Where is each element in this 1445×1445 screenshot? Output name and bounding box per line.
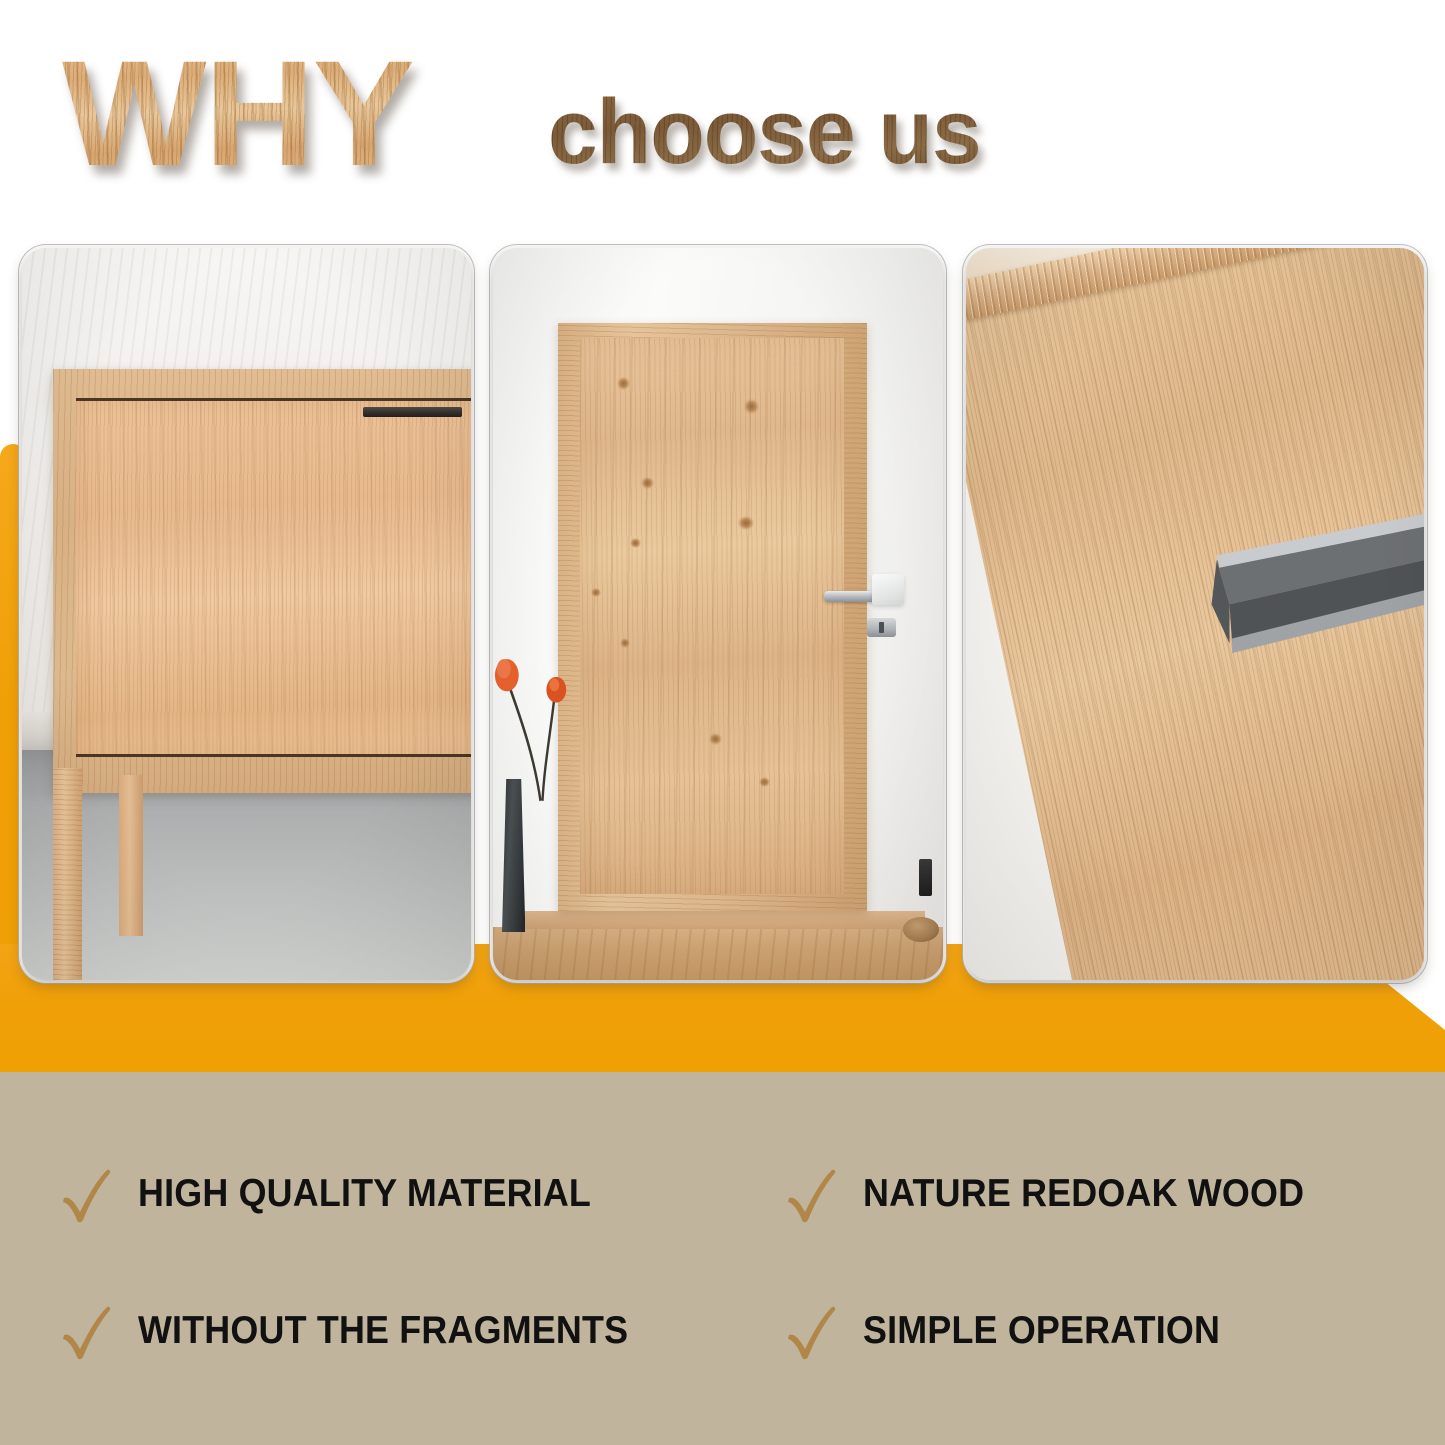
check-icon <box>785 1165 841 1223</box>
wood-knot <box>738 516 754 530</box>
feature-list: HIGH QUALITY MATERIAL NATURE REDOAK WOOD… <box>0 1072 1445 1445</box>
feature-label: HIGH QUALITY MATERIAL <box>138 1173 591 1215</box>
cabinet-leg-left <box>53 768 82 980</box>
page-title-choose-us: choose us <box>548 86 981 178</box>
wood-knot <box>709 733 722 745</box>
poppy-flowers <box>493 643 588 804</box>
wood-knot <box>620 638 631 648</box>
cabinet-leg-middle <box>119 775 144 936</box>
feature-band: HIGH QUALITY MATERIAL NATURE REDOAK WOOD… <box>0 1072 1445 1445</box>
check-icon <box>785 1302 841 1360</box>
feature-item-nature-redoak-wood: NATURE REDOAK WOOD <box>743 1126 1406 1263</box>
oak-door-leaf <box>580 338 843 894</box>
door-lock-plate[interactable] <box>867 618 896 636</box>
wood-knot <box>630 538 641 548</box>
feature-label: NATURE REDOAK WOOD <box>863 1173 1304 1215</box>
feature-item-high-quality-material: HIGH QUALITY MATERIAL <box>60 1126 723 1263</box>
feature-item-simple-operation: SIMPLE OPERATION <box>743 1263 1406 1400</box>
photo-content <box>22 248 471 980</box>
oak-cabinet-photo <box>22 248 471 980</box>
feature-item-without-the-fragments: WITHOUT THE FRAGMENTS <box>60 1263 723 1400</box>
cabinet-bar-handle <box>363 407 462 417</box>
light-switch[interactable] <box>872 574 904 605</box>
skirting-board <box>507 911 926 929</box>
wood-knot <box>641 477 654 489</box>
oak-interior-door-photo <box>493 248 943 980</box>
door-stopper <box>919 859 933 896</box>
oak-edge-handle-macro-photo <box>966 248 1424 980</box>
wood-knot <box>759 777 770 787</box>
floor-pebble <box>903 917 939 942</box>
wood-knot <box>617 377 630 390</box>
feature-label: SIMPLE OPERATION <box>863 1310 1220 1352</box>
cabinet-flap-door <box>76 398 471 757</box>
feature-label: WITHOUT THE FRAGMENTS <box>138 1310 628 1352</box>
header: WHY choose us <box>0 0 1445 232</box>
photo-content <box>493 248 943 980</box>
check-icon <box>60 1302 116 1360</box>
infographic-canvas: WHY choose us HIGH QUALITY MATERIAL NATU… <box>0 0 1445 1445</box>
metal-bar-handle[interactable] <box>1209 497 1424 717</box>
wood-knot <box>744 399 760 413</box>
wood-floor <box>493 927 943 980</box>
check-icon <box>60 1165 116 1223</box>
page-title-why: WHY <box>62 38 413 188</box>
photo-content <box>966 248 1424 980</box>
wood-knot <box>591 588 602 597</box>
